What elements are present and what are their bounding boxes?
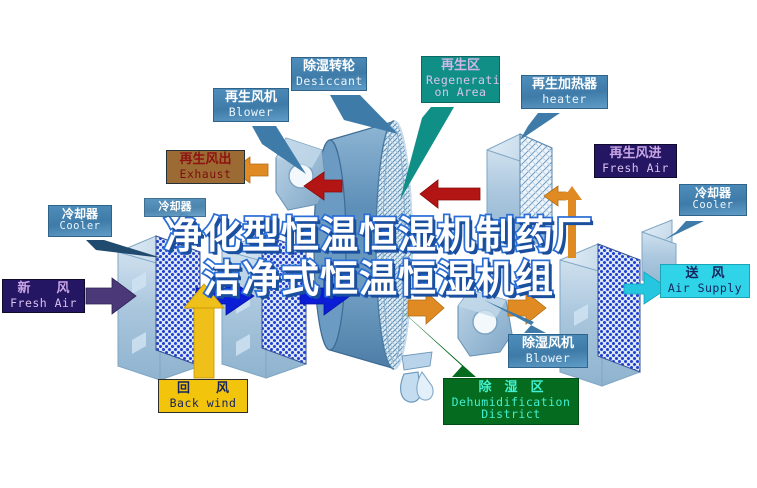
label-dehumidification-blower-cn: 除湿风机 (513, 337, 583, 352)
label-desiccant-wheel-cn: 除湿转轮 (296, 60, 362, 75)
label-regeneration-heater-cn: 再生加热器 (526, 78, 603, 93)
label-regeneration-exhaust-cn: 再生风出 (171, 153, 240, 168)
label-regeneration-blower-cn: 再生风机 (218, 91, 284, 106)
label-regeneration-area: 再生区 Regenerati on Area (421, 56, 500, 103)
fresh-air-riser-arrow (562, 186, 582, 258)
regen-hot-air-arrow-2 (420, 180, 480, 208)
label-regeneration-exhaust: 再生风出 Exhaust (166, 150, 245, 184)
label-dehumidification-district-cn: 除 湿 区 (448, 381, 574, 396)
regeneration-heater-coil (487, 134, 552, 250)
label-cooler-left-en: Cooler (53, 221, 107, 233)
label-desiccant-wheel: 除湿转轮 Desiccant (291, 57, 367, 91)
label-fresh-air-inlet: 新 风 Fresh Air (2, 279, 85, 313)
label-cooler-left-cn: 冷却器 (53, 208, 107, 221)
dry-air-arrow-1 (408, 292, 444, 324)
label-regeneration-exhaust-en: Exhaust (171, 168, 240, 181)
label-dehumidification-blower-en: Blower (513, 352, 583, 365)
label-cooler-mid-hidden-cn: 冷却器 (149, 201, 201, 213)
label-cooler-right-en: Cooler (684, 200, 742, 212)
label-cooler-left: 冷却器 Cooler (48, 205, 112, 237)
dehumidification-blower-housing (458, 290, 512, 356)
label-regeneration-area-cn: 再生区 (426, 59, 495, 74)
label-dehumidification-blower: 除湿风机 Blower (508, 334, 588, 368)
label-cooler-mid-hidden: 冷却器 (144, 198, 206, 217)
hvac-schematic-artwork (0, 0, 757, 488)
label-back-wind-cn: 回 风 (163, 382, 243, 397)
label-cooler-right-cn: 冷却器 (684, 187, 742, 200)
label-back-wind-en: Back wind (163, 397, 243, 410)
label-regeneration-area-en-line2: on Area (426, 86, 495, 99)
label-back-wind: 回 风 Back wind (158, 379, 248, 413)
label-desiccant-wheel-en: Desiccant (296, 75, 362, 88)
label-cooler-right: 冷却器 Cooler (679, 184, 747, 216)
desiccant-rotor (314, 121, 412, 369)
label-regeneration-fresh-air-in-cn: 再生风进 (599, 147, 672, 162)
label-regeneration-fresh-air-in-en: Fresh Air (599, 162, 672, 175)
label-regeneration-heater-en: heater (526, 93, 603, 106)
label-regeneration-heater: 再生加热器 heater (521, 75, 608, 109)
label-air-supply-outlet: 送 风 Air Supply (660, 264, 750, 298)
label-fresh-air-inlet-en: Fresh Air (7, 297, 80, 310)
label-regeneration-blower: 再生风机 Blower (213, 88, 289, 122)
label-dehumidification-district-en-line2: District (448, 408, 574, 421)
condensate-drain (401, 352, 433, 402)
label-regeneration-blower-en: Blower (218, 106, 284, 119)
label-regeneration-fresh-air-in: 再生风进 Fresh Air (594, 144, 677, 178)
label-air-supply-outlet-en: Air Supply (665, 282, 745, 295)
label-air-supply-outlet-cn: 送 风 (665, 267, 745, 282)
label-fresh-air-inlet-cn: 新 风 (7, 282, 80, 297)
label-dehumidification-district: 除 湿 区 Dehumidification District (443, 378, 579, 425)
diagram-canvas: 净化型恒温恒湿机制药厂 洁净式恒温恒湿机组 除湿转轮 Desiccant 再生风… (0, 0, 757, 488)
